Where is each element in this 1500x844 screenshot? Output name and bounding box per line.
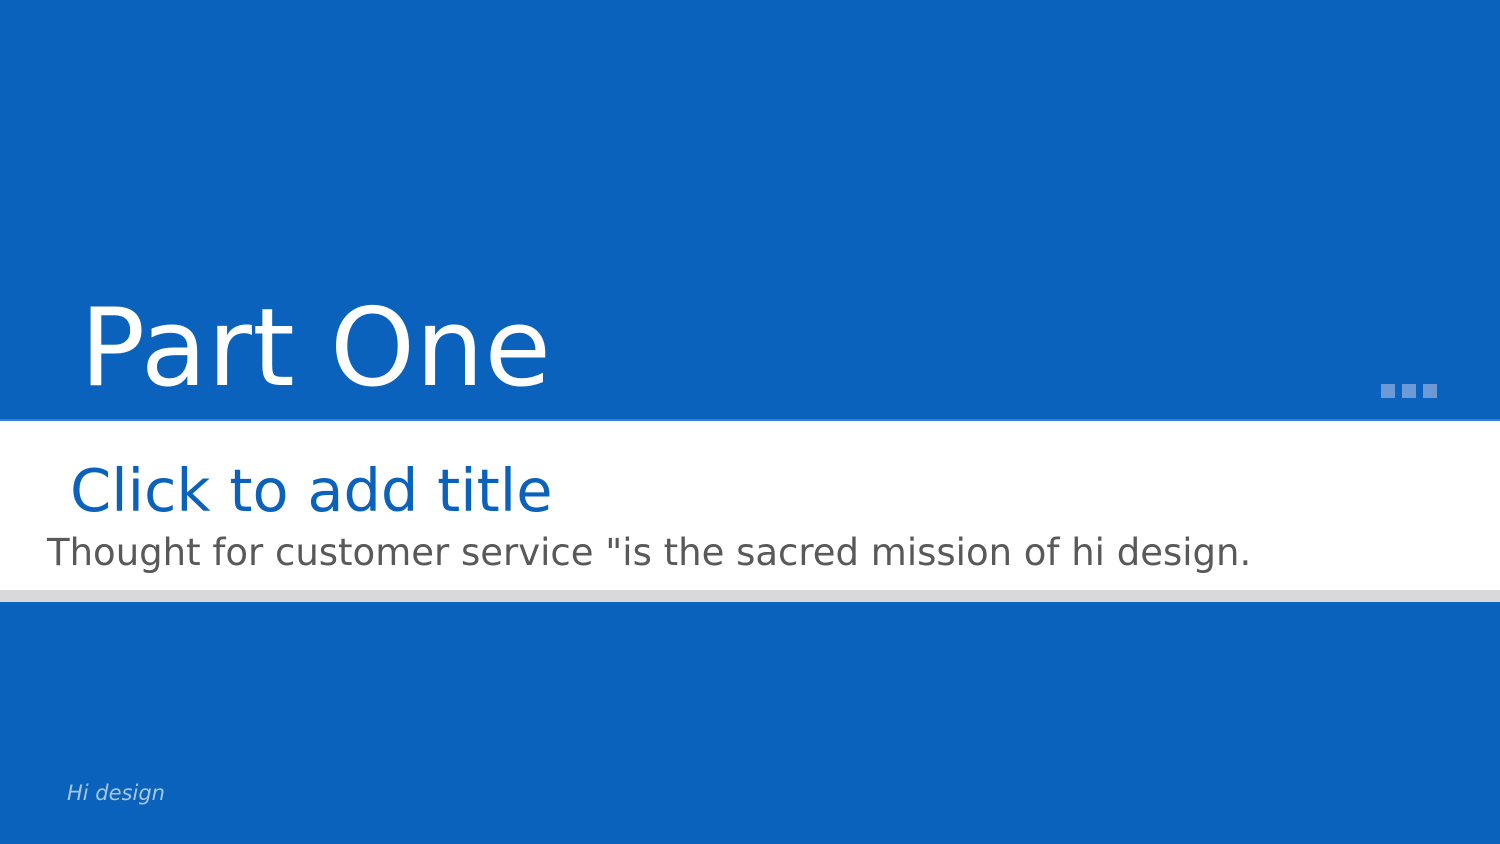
subtitle-text[interactable]: Thought for customer service "is the sac… <box>47 528 1467 578</box>
square-dot-icon <box>1423 384 1437 398</box>
three-squares-ornament <box>1381 384 1437 398</box>
section-heading[interactable]: Part One <box>80 294 1280 404</box>
square-dot-icon <box>1381 384 1395 398</box>
footer-brand: Hi design <box>67 781 165 805</box>
square-dot-icon <box>1402 384 1416 398</box>
presentation-slide: Part One Click to add title Thought for … <box>0 0 1500 844</box>
gray-divider-band <box>0 590 1500 602</box>
title-placeholder[interactable]: Click to add title <box>70 455 1370 527</box>
bottom-blue-band <box>0 602 1500 844</box>
